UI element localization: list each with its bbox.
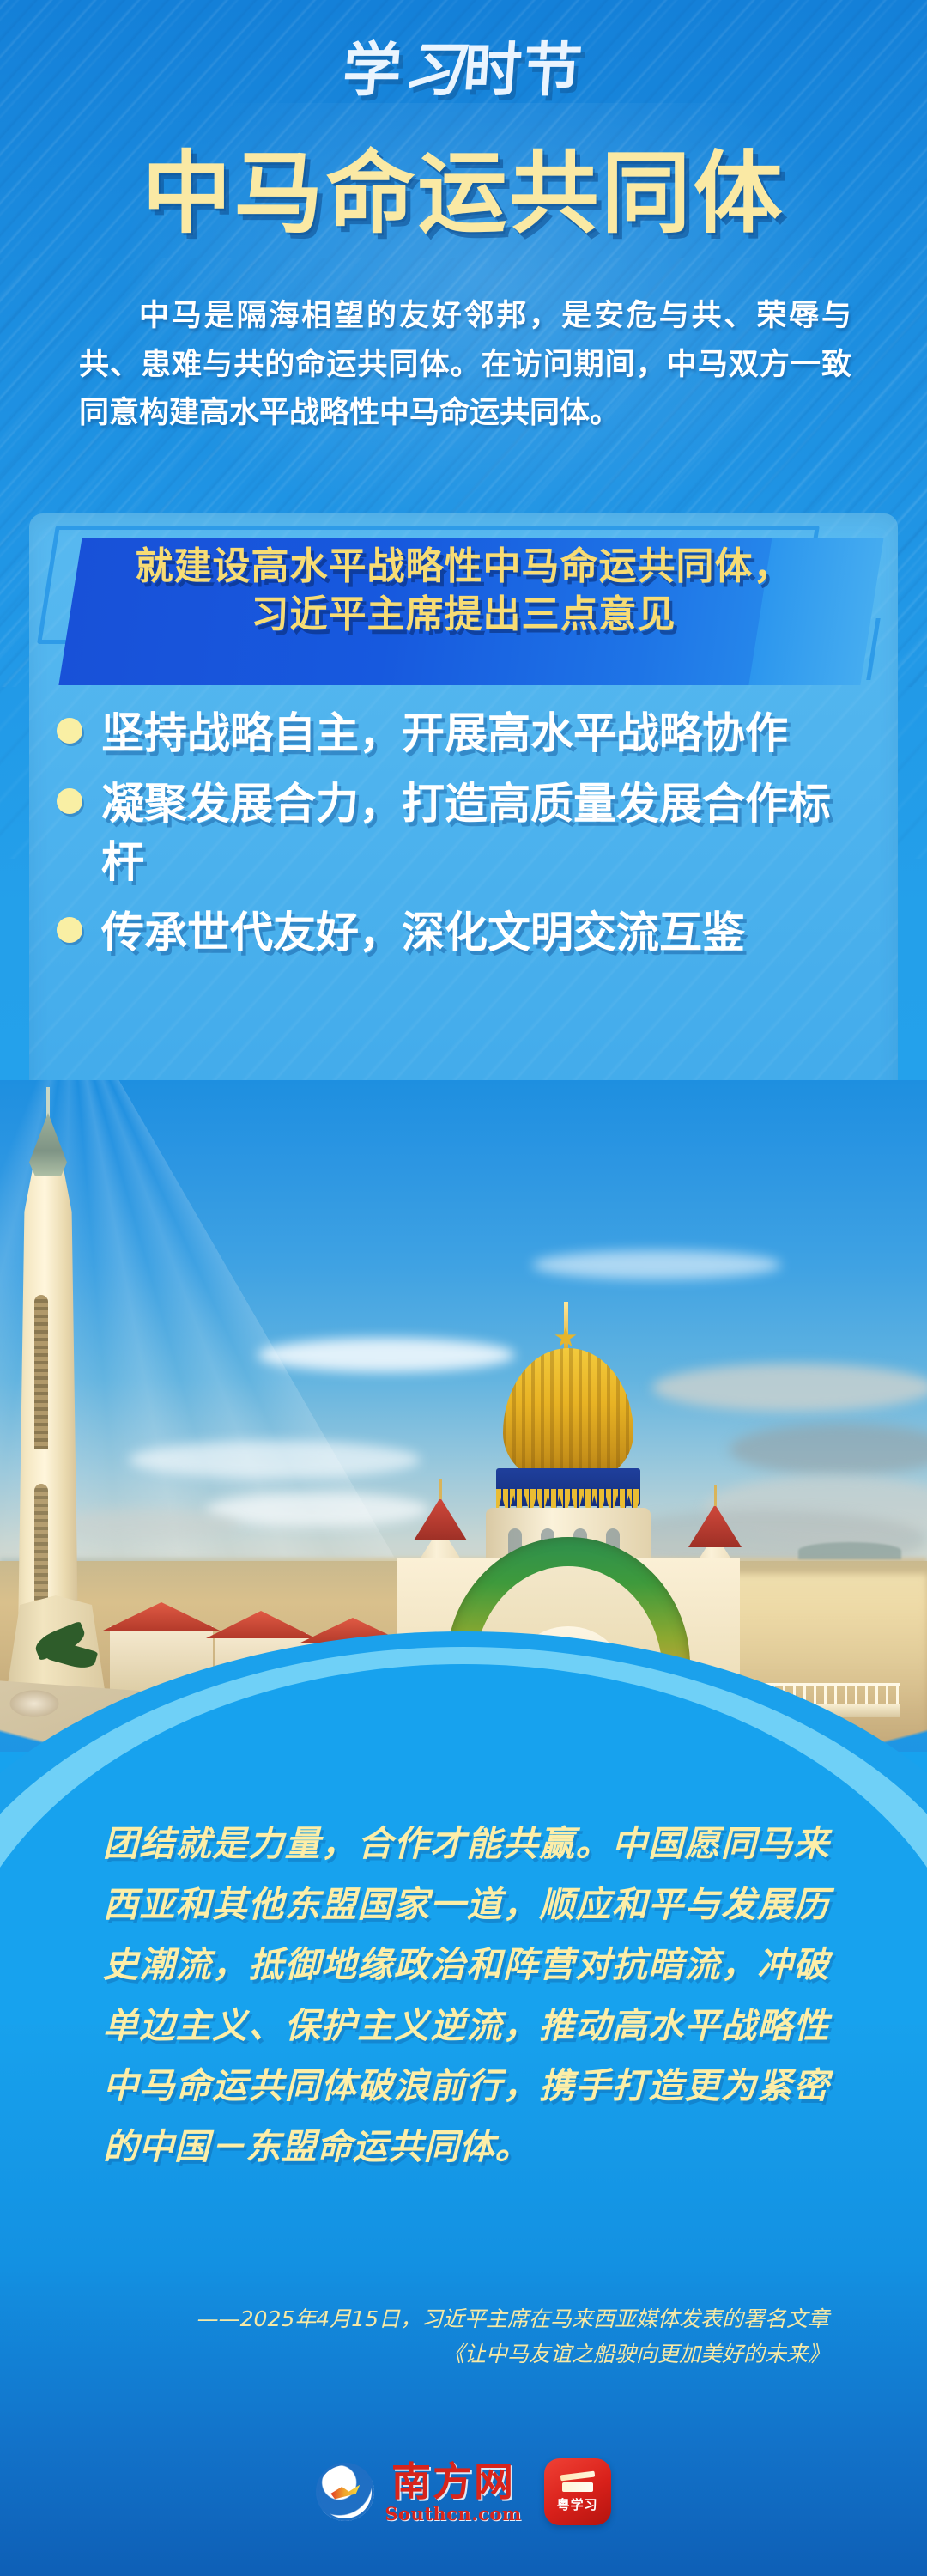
- photo-tower-spire: [714, 1485, 717, 1506]
- photo-minaret-lattice: [34, 1295, 48, 1449]
- southcn-emblem-icon: [316, 2463, 374, 2521]
- photo-cloud: [129, 1441, 421, 1479]
- photo-tower-spire: [439, 1479, 442, 1499]
- attribution-line2: 《让中马友谊之船驶向更加美好的未来》: [103, 2336, 829, 2372]
- phoenix-icon: [330, 2483, 360, 2500]
- photo-dome-spire: [564, 1302, 568, 1355]
- photo-cloud: [206, 1492, 429, 1527]
- brand-char-xue: 学: [341, 37, 406, 105]
- photo-cloud: [51, 1510, 240, 1540]
- points-list: 坚持战略自主，开展高水平战略协作 凝聚发展合力，打造高质量发展合作标杆 传承世代…: [29, 704, 898, 974]
- brand-logo: 学习时节: [0, 15, 927, 114]
- banner-heading-line1: 就建设高水平战略性中马命运共同体，: [70, 543, 857, 591]
- brand-logo-text: 学习时节: [341, 22, 587, 107]
- quote-attribution: ——2025年4月15日，习近平主席在马来西亚媒体发表的署名文章 《让中马友谊之…: [103, 2301, 829, 2372]
- photo-island: [798, 1542, 901, 1559]
- list-item: 传承世代友好，深化文明交流互鉴: [29, 903, 898, 962]
- southcn-name-cn: 南方网: [391, 2462, 515, 2501]
- attribution-line1: ——2025年4月15日，习近平主席在马来西亚媒体发表的署名文章: [103, 2301, 829, 2336]
- intro-paragraph: 中马是隔海相望的友好邻邦，是安危与共、荣辱与共、患难与共的命运共同体。在访问期间…: [79, 292, 851, 438]
- banner-heading: 就建设高水平战略性中马命运共同体， 习近平主席提出三点意见: [70, 543, 857, 640]
- southcn-logo[interactable]: 南方网 Southcn.com: [316, 2462, 521, 2523]
- yuexuexi-app-icon[interactable]: 粤学习: [544, 2458, 611, 2525]
- list-item-label: 凝聚发展合力，打造高质量发展合作标杆: [101, 775, 839, 891]
- banner-heading-line2: 习近平主席提出三点意见: [70, 591, 857, 639]
- bullet-dot-icon: [57, 718, 82, 744]
- photo-cloud: [257, 1338, 515, 1372]
- list-item: 凝聚发展合力，打造高质量发展合作标杆: [29, 775, 898, 891]
- bullet-dot-icon: [57, 788, 82, 814]
- points-banner: 就建设高水平战略性中马命运共同体， 习近平主席提出三点意见: [29, 526, 898, 680]
- page-title: 中马命运共同体: [0, 146, 927, 240]
- southcn-name-en: Southcn.com: [385, 2505, 521, 2523]
- footer: 南方网 Southcn.com 粤学习: [0, 2440, 927, 2543]
- book-icon: [560, 2470, 595, 2493]
- bullet-dot-icon: [57, 917, 82, 943]
- southcn-wordmark: 南方网 Southcn.com: [385, 2462, 521, 2523]
- photo-cloud: [532, 1250, 781, 1279]
- brand-char-xi: 习: [401, 36, 466, 105]
- poster-root: 学习时节 中马命运共同体 中马是隔海相望的友好邻邦，是安危与共、荣辱与共、患难与…: [0, 0, 927, 2576]
- brand-chars-shijie: 时节: [461, 37, 586, 105]
- pull-quote: 团结就是力量，合作才能共赢。中国愿同马来西亚和其他东盟国家一道，顺应和平与发展历…: [103, 1814, 829, 2177]
- list-item-label: 坚持战略自主，开展高水平战略协作: [101, 704, 839, 762]
- list-item: 坚持战略自主，开展高水平战略协作: [29, 704, 898, 762]
- photo-cloud: [652, 1364, 927, 1412]
- yuexuexi-label: 粤学习: [557, 2495, 598, 2513]
- list-item-label: 传承世代友好，深化文明交流互鉴: [101, 903, 839, 962]
